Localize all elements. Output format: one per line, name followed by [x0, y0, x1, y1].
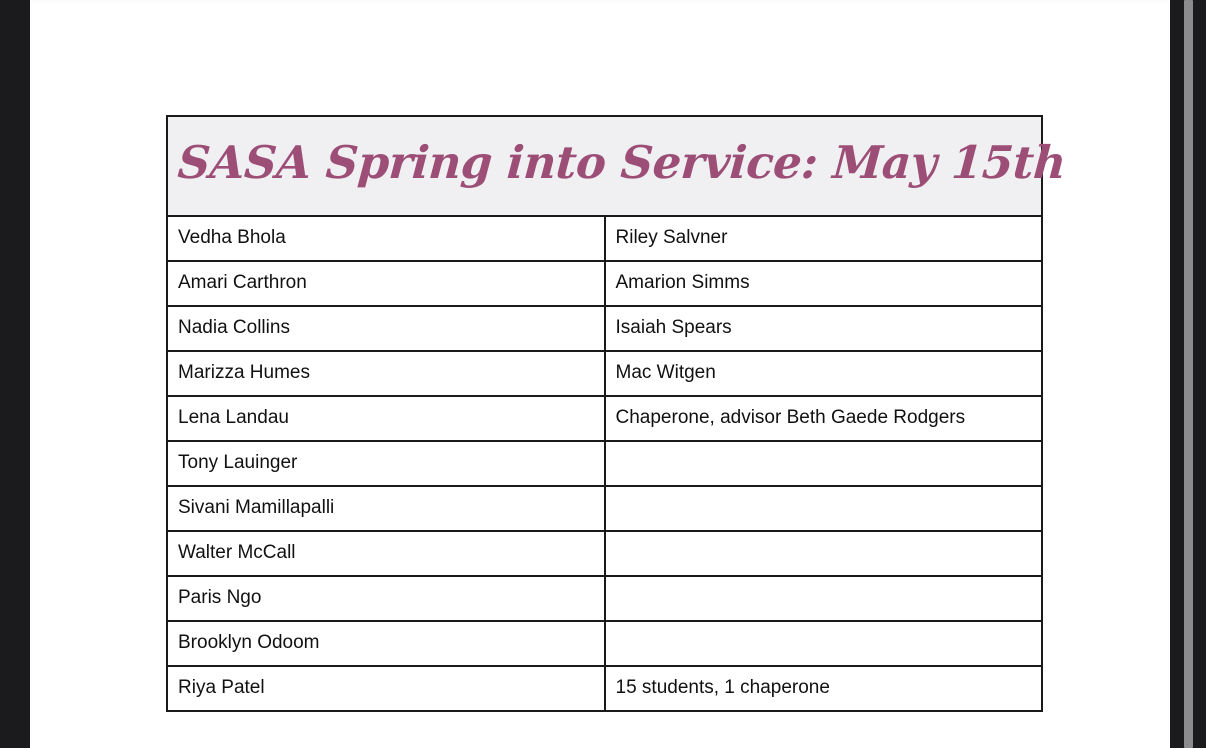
roster-table-header-row: SASA Spring into Service: May 15th — [167, 116, 1042, 216]
roster-table: SASA Spring into Service: May 15th Vedha… — [166, 115, 1043, 712]
roster-title-cell: SASA Spring into Service: May 15th — [167, 116, 1042, 216]
participant-note: Mac Witgen — [605, 351, 1043, 396]
table-row: Riya Patel 15 students, 1 chaperone — [167, 666, 1042, 711]
participant-name: Nadia Collins — [167, 306, 605, 351]
participant-note — [605, 576, 1043, 621]
participant-note — [605, 531, 1043, 576]
table-row: Vedha Bhola Riley Salvner — [167, 216, 1042, 261]
chaperone-note: Chaperone, advisor Beth Gaede Rodgers — [605, 396, 1043, 441]
table-row: Lena Landau Chaperone, advisor Beth Gaed… — [167, 396, 1042, 441]
scrollbar-thumb[interactable] — [1184, 0, 1193, 748]
participant-name: Riya Patel — [167, 666, 605, 711]
participant-note: Riley Salvner — [605, 216, 1043, 261]
page-top-edge — [30, 0, 1170, 2]
viewer-left-gutter — [0, 0, 30, 748]
roster-table-body: SASA Spring into Service: May 15th Vedha… — [167, 116, 1042, 711]
table-row: Walter McCall — [167, 531, 1042, 576]
participant-name: Paris Ngo — [167, 576, 605, 621]
participant-name: Tony Lauinger — [167, 441, 605, 486]
table-row: Marizza Humes Mac Witgen — [167, 351, 1042, 396]
table-row: Sivani Mamillapalli — [167, 486, 1042, 531]
table-row: Amari Carthron Amarion Simms — [167, 261, 1042, 306]
participant-note — [605, 621, 1043, 666]
participant-name: Amari Carthron — [167, 261, 605, 306]
participant-name: Sivani Mamillapalli — [167, 486, 605, 531]
participant-note: Isaiah Spears — [605, 306, 1043, 351]
participant-note — [605, 486, 1043, 531]
participant-note: Amarion Simms — [605, 261, 1043, 306]
page-title: SASA Spring into Service: May 15th — [176, 139, 1067, 186]
participant-name: Vedha Bhola — [167, 216, 605, 261]
table-row: Nadia Collins Isaiah Spears — [167, 306, 1042, 351]
document-page: SASA Spring into Service: May 15th Vedha… — [30, 0, 1170, 748]
participant-name: Lena Landau — [167, 396, 605, 441]
participant-name: Walter McCall — [167, 531, 605, 576]
table-row: Paris Ngo — [167, 576, 1042, 621]
table-row: Tony Lauinger — [167, 441, 1042, 486]
document-viewer: SASA Spring into Service: May 15th Vedha… — [0, 0, 1206, 748]
vertical-scrollbar[interactable] — [1170, 0, 1206, 748]
total-count-note: 15 students, 1 chaperone — [605, 666, 1043, 711]
participant-name: Brooklyn Odoom — [167, 621, 605, 666]
participant-name: Marizza Humes — [167, 351, 605, 396]
participant-note — [605, 441, 1043, 486]
table-row: Brooklyn Odoom — [167, 621, 1042, 666]
